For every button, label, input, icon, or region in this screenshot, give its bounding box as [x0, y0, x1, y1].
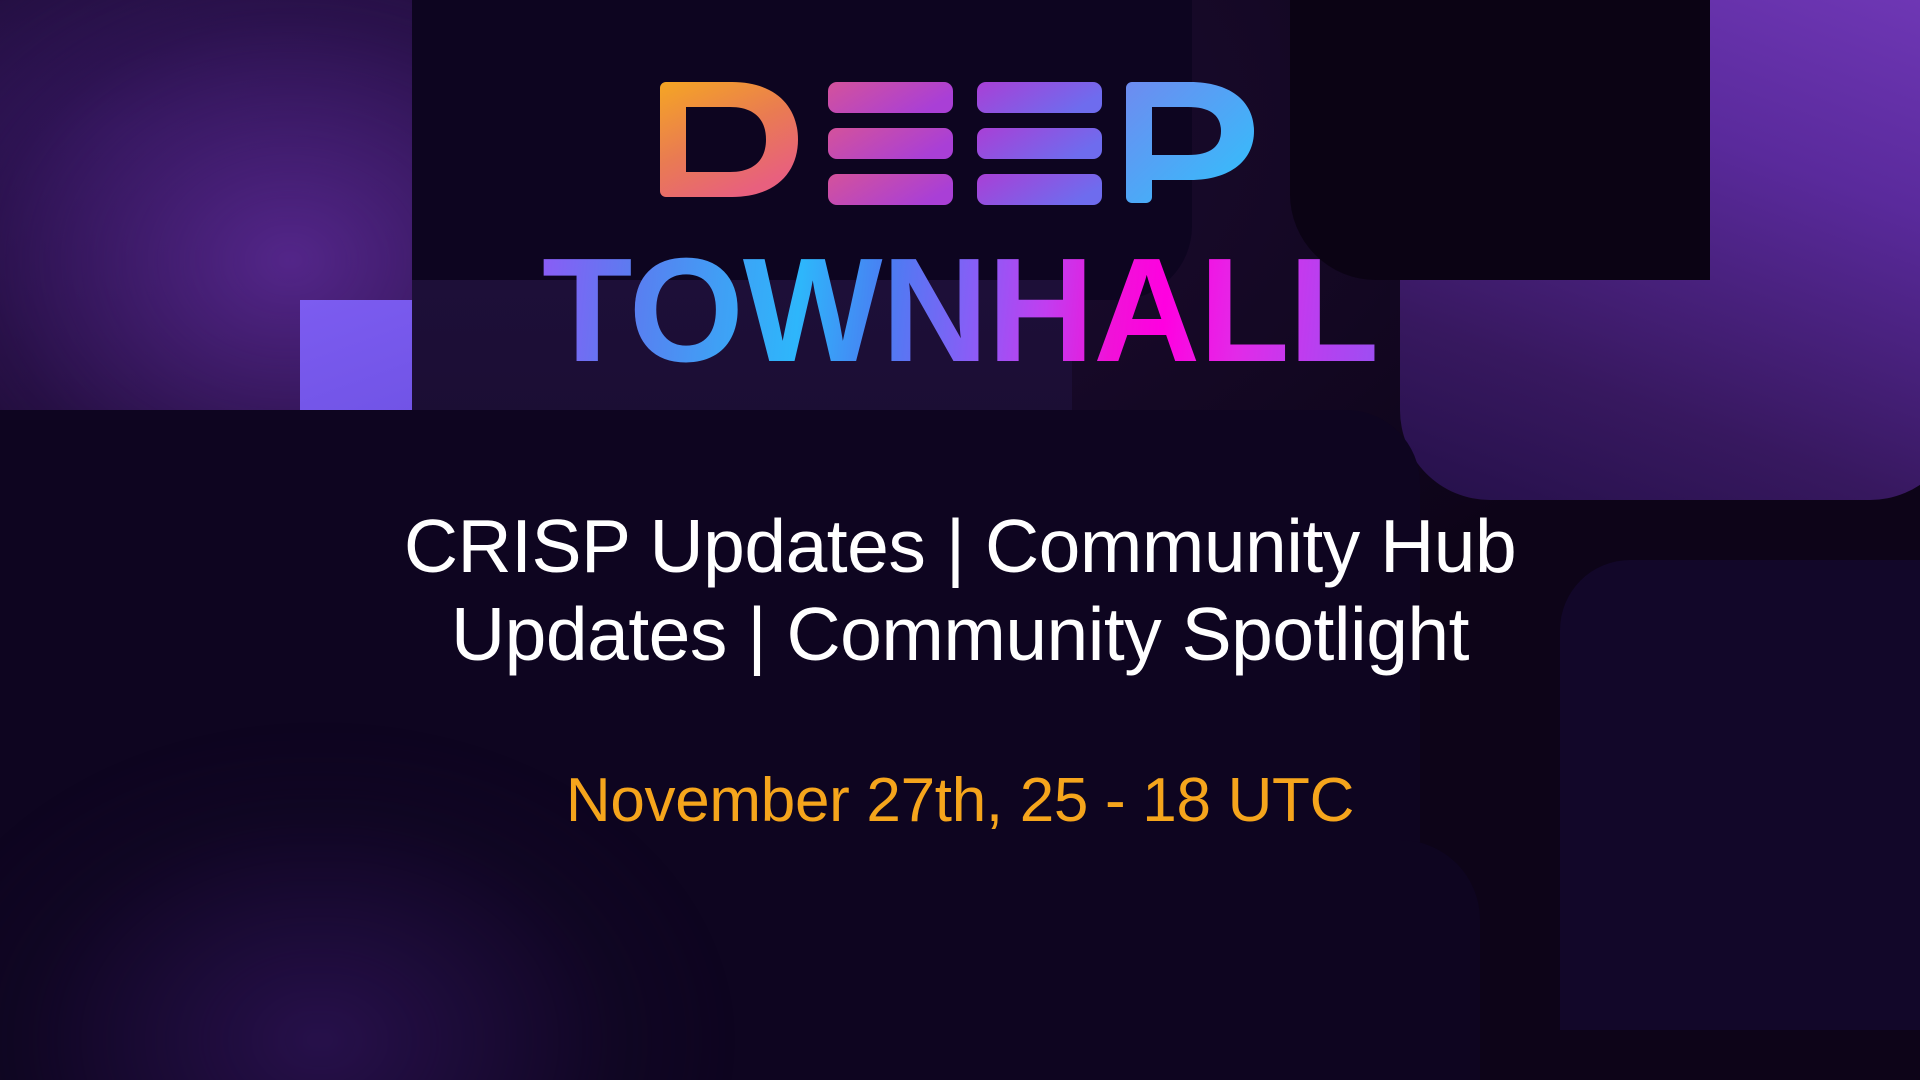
subtitle-line-2: Updates | Community Spotlight [230, 591, 1690, 679]
banner-subtitle: CRISP Updates | Community Hub Updates | … [230, 503, 1690, 679]
banner-content: TOWNHALL CRISP Updates | Community Hub U… [0, 0, 1920, 1080]
deep-logo-icon [660, 76, 1260, 211]
event-banner: TOWNHALL CRISP Updates | Community Hub U… [0, 0, 1920, 1080]
townhall-wordmark: TOWNHALL [542, 237, 1378, 385]
event-date-text: November 27th, 25 - 18 UTC [566, 765, 1354, 836]
subtitle-line-1: CRISP Updates | Community Hub [230, 503, 1690, 591]
